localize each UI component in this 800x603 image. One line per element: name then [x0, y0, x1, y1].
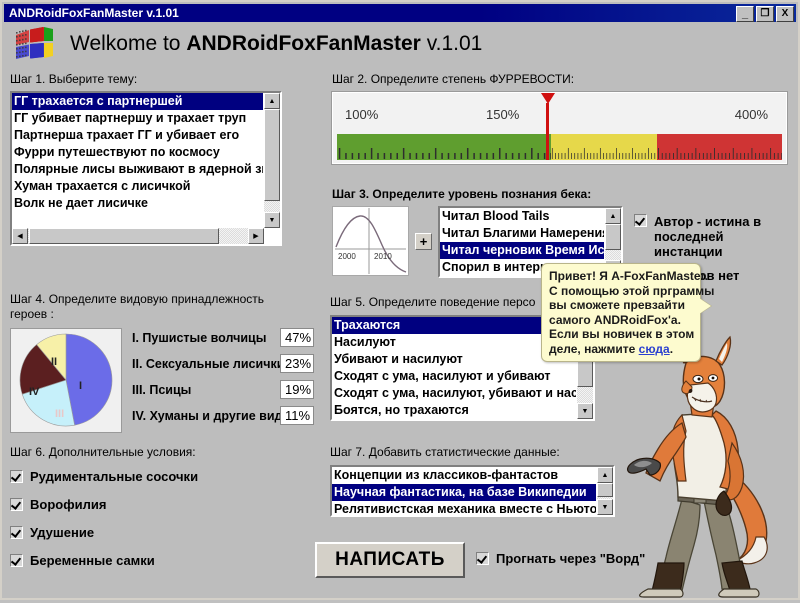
step-2-label: Шаг 2. Определите степень ФУРРЕВОСТИ: [332, 72, 792, 86]
step-7-group: Шаг 7. Добавить статистические данные: К… [330, 445, 630, 517]
tooltip-line-5: деле, нажмите сюда. [549, 342, 693, 357]
tooltip-line-0: Привет! Я A-FoxFanMaster. [549, 269, 693, 284]
statistics-list-items: Концепции из классиков-фантастовНаучная … [332, 467, 596, 515]
behavior-item[interactable]: Убивают и насилуют [332, 351, 576, 368]
tooltip-line-4: Если вы новичек в этом [549, 327, 693, 342]
statistics-listbox[interactable]: Концепции из классиков-фантастовНаучная … [330, 465, 615, 517]
step-2-group: Шаг 2. Определите степень ФУРРЕВОСТИ: 10… [332, 72, 792, 164]
condition-checkbox-row[interactable]: Ворофилия [10, 497, 310, 512]
scroll-up-icon[interactable]: ▲ [264, 93, 280, 109]
species-pie-chart: II I III IV [10, 328, 122, 433]
meter-ticks [657, 146, 782, 160]
condition-checkbox[interactable] [10, 498, 23, 511]
word-checkbox[interactable] [476, 552, 489, 565]
statistics-listbox-vscrollbar[interactable]: ▲ ▼ [596, 467, 613, 515]
knowledge-item[interactable]: Читал Благими Намерения [440, 225, 604, 242]
theme-item[interactable]: Полярные лисы выживают в ядерной зи [12, 161, 263, 178]
maximize-icon: ❐ [757, 7, 773, 21]
knowledge-item[interactable]: Читал черновик Время Иск [440, 242, 604, 259]
theme-item[interactable]: ГГ трахается с партнершей [12, 93, 263, 110]
statistics-item[interactable]: Релятивистская механика вместе с Ньютон [332, 501, 596, 515]
condition-label: Рудиментальные сосочки [30, 469, 198, 484]
close-button[interactable]: X [776, 6, 794, 22]
knowledge-line-chart: 2000 2010 [332, 206, 409, 276]
tooltip-last-prefix: деле, нажмите [549, 342, 639, 356]
meter-ticks [551, 146, 658, 160]
legend-percent-value: 47% [280, 328, 314, 347]
condition-checkbox[interactable] [10, 554, 23, 567]
svg-text:I: I [79, 380, 82, 392]
tooltip-link[interactable]: сюда [639, 342, 670, 356]
theme-item[interactable]: Хуман трахается с лисичкой [12, 178, 263, 195]
fox-mascot-illustration [624, 323, 794, 598]
legend-percent-value: 11% [280, 406, 314, 425]
header-bar: Welkome to ANDRoidFoxFanMaster v.1.01 [4, 22, 796, 66]
condition-checkbox[interactable] [10, 470, 23, 483]
step-7-label: Шаг 7. Добавить статистические данные: [330, 445, 630, 459]
tooltip-tail-icon [699, 298, 711, 314]
theme-listbox[interactable]: ГГ трахается с партнершейГГ убивает парт… [10, 91, 282, 246]
windows-flag-logo-icon [14, 27, 54, 61]
app-version: v.1.01 [421, 32, 482, 55]
author-truth-checkbox-row[interactable]: Автор - истина в последней инстанции [634, 214, 762, 259]
welcome-prefix: Welkome to [70, 32, 186, 55]
condition-checkbox[interactable] [10, 526, 23, 539]
legend-percent-value: 23% [280, 354, 314, 373]
scroll-down-icon[interactable]: ▼ [597, 499, 613, 515]
meter-ticks [337, 146, 551, 160]
window-title: ANDRoidFoxFanMaster v.1.01 [9, 6, 179, 20]
pie-chart-svg: II I III IV [11, 329, 121, 432]
maximize-button[interactable]: ❐ [756, 6, 774, 22]
legend-row: I. Пушистые волчицы47% [132, 328, 314, 347]
step-4-group: Шаг 4. Определите видовую принадлежность… [10, 292, 320, 433]
meter-segment-green [337, 134, 551, 160]
knowledge-item[interactable]: Читал Blood Tails [440, 208, 604, 225]
behavior-item[interactable]: Трахаются [332, 317, 576, 334]
theme-list-items: ГГ трахается с партнершейГГ убивает парт… [12, 93, 263, 244]
tooltip-line-1: С помощью этой прграммы [549, 284, 693, 299]
legend-row: IV. Хуманы и другие виды11% [132, 406, 314, 425]
condition-checkbox-row[interactable]: Беременные самки [10, 553, 310, 568]
vscroll-thumb[interactable] [605, 224, 621, 250]
mascot-tooltip: Привет! Я A-FoxFanMaster. С помощью этой… [541, 263, 701, 362]
scroll-down-icon[interactable]: ▼ [577, 403, 593, 419]
scroll-up-icon[interactable]: ▲ [597, 467, 613, 483]
step-4-label-line1: Шаг 4. Определите видовую принадлежность [10, 292, 264, 306]
condition-label: Беременные самки [30, 553, 155, 568]
step-1-label: Шаг 1. Выберите тему: [10, 72, 290, 86]
legend-label: II. Сексуальные лисички [132, 357, 280, 371]
tooltip-last-suffix: . [670, 342, 673, 356]
behavior-item[interactable]: Сходят с ума, насилуют и убивают [332, 368, 576, 385]
vscroll-thumb[interactable] [264, 109, 280, 201]
meter-bar [337, 134, 782, 160]
behavior-list-items: ТрахаютсяНасилуютУбивают и насилуютСходя… [332, 317, 576, 419]
author-truth-checkbox[interactable] [634, 214, 647, 227]
condition-label: Ворофилия [30, 497, 106, 512]
title-bar: ANDRoidFoxFanMaster v.1.01 _ ❐ X [4, 4, 796, 22]
app-name: ANDRoidFoxFanMaster [186, 32, 421, 55]
meter-tick-labels: 100% 150% 400% [333, 107, 786, 125]
word-check-row[interactable]: Прогнать через "Ворд" [476, 551, 645, 566]
step-6-label: Шаг 6. Дополнительные условия: [10, 445, 310, 459]
theme-item[interactable]: Волк не дает лисичке [12, 195, 263, 212]
tooltip-line-2: вы сможете превзайти [549, 298, 693, 313]
meter-segment-red [657, 134, 782, 160]
legend-label: I. Пушистые волчицы [132, 331, 280, 345]
page-title: Welkome to ANDRoidFoxFanMaster v.1.01 [70, 32, 482, 56]
svg-text:II: II [51, 356, 57, 368]
furryness-meter[interactable]: 100% 150% 400% [332, 92, 787, 164]
behavior-item[interactable]: Сходят с ума, насилуют, убивают и наси [332, 385, 576, 402]
meter-segment-yellow [551, 134, 658, 160]
minimize-icon: _ [737, 7, 753, 21]
pie-slice-I [66, 334, 112, 425]
step-6-checkbox-group: Рудиментальные сосочкиВорофилияУдушениеБ… [10, 469, 310, 568]
step-1-group: Шаг 1. Выберите тему: ГГ трахается с пар… [10, 72, 290, 246]
write-button[interactable]: НАПИСАТЬ [315, 542, 465, 578]
step-4-label: Шаг 4. Определите видовую принадлежность… [10, 292, 300, 322]
svg-text:III: III [55, 408, 64, 420]
tooltip-line-3: самого ANDRoidFox'a. [549, 313, 693, 328]
statistics-item[interactable]: Научная фантастика, на базе Википедии [332, 484, 596, 501]
application-window: ANDRoidFoxFanMaster v.1.01 _ ❐ X [0, 0, 800, 600]
meter-label-2: 400% [735, 107, 768, 122]
close-icon: X [777, 7, 793, 21]
legend-label: III. Псицы [132, 383, 280, 397]
theme-listbox-hscrollbar[interactable]: ◀ ▶ [12, 227, 264, 244]
meter-needle[interactable] [546, 103, 549, 160]
svg-text:IV: IV [29, 386, 40, 398]
legend-row: III. Псицы19% [132, 380, 314, 399]
legend-percent-value: 19% [280, 380, 314, 399]
behavior-item[interactable]: Насилуют [332, 334, 576, 351]
vscroll-thumb[interactable] [597, 483, 613, 497]
theme-item[interactable]: Фурри путешествуют по космосу [12, 144, 263, 161]
behavior-item[interactable]: Боятся, но трахаются [332, 402, 576, 419]
minimize-button[interactable]: _ [736, 6, 754, 22]
theme-listbox-vscrollbar[interactable]: ▲ ▼ [263, 93, 280, 228]
add-knowledge-button[interactable]: + [415, 233, 432, 250]
step-3-label: Шаг 3. Определите уровень познания бека: [332, 187, 800, 201]
svg-text:2010: 2010 [374, 252, 392, 261]
theme-item[interactable]: Партнерша трахает ГГ и убивает его [12, 127, 263, 144]
legend-label: IV. Хуманы и другие виды [132, 409, 280, 423]
author-truth-label: Автор - истина в последней инстанции [654, 214, 762, 259]
step-6-group: Шаг 6. Дополнительные условия: Рудимента… [10, 445, 310, 581]
step-4-label-line2: героев : [10, 307, 54, 321]
species-legend: I. Пушистые волчицы47%II. Сексуальные ли… [132, 328, 314, 432]
word-check-label: Прогнать через "Ворд" [496, 551, 645, 566]
theme-item[interactable]: ГГ убивает партнершу и трахает труп [12, 110, 263, 127]
meter-label-0: 100% [345, 107, 378, 122]
scroll-up-icon[interactable]: ▲ [605, 208, 621, 224]
legend-row: II. Сексуальные лисички23% [132, 354, 314, 373]
scroll-left-icon[interactable]: ◀ [12, 228, 28, 244]
window-controls: _ ❐ X [736, 6, 794, 22]
scroll-down-icon[interactable]: ▼ [264, 212, 280, 228]
condition-label: Удушение [30, 525, 94, 540]
condition-checkbox-row[interactable]: Удушение [10, 525, 310, 540]
line-chart-svg: 2000 2010 [333, 207, 408, 275]
condition-checkbox-row[interactable]: Рудиментальные сосочки [10, 469, 310, 484]
hscroll-thumb[interactable] [29, 228, 219, 244]
meter-label-1: 150% [486, 107, 519, 122]
scroll-right-icon[interactable]: ▶ [248, 228, 264, 244]
svg-text:2000: 2000 [338, 252, 356, 261]
statistics-item[interactable]: Концепции из классиков-фантастов [332, 467, 596, 484]
